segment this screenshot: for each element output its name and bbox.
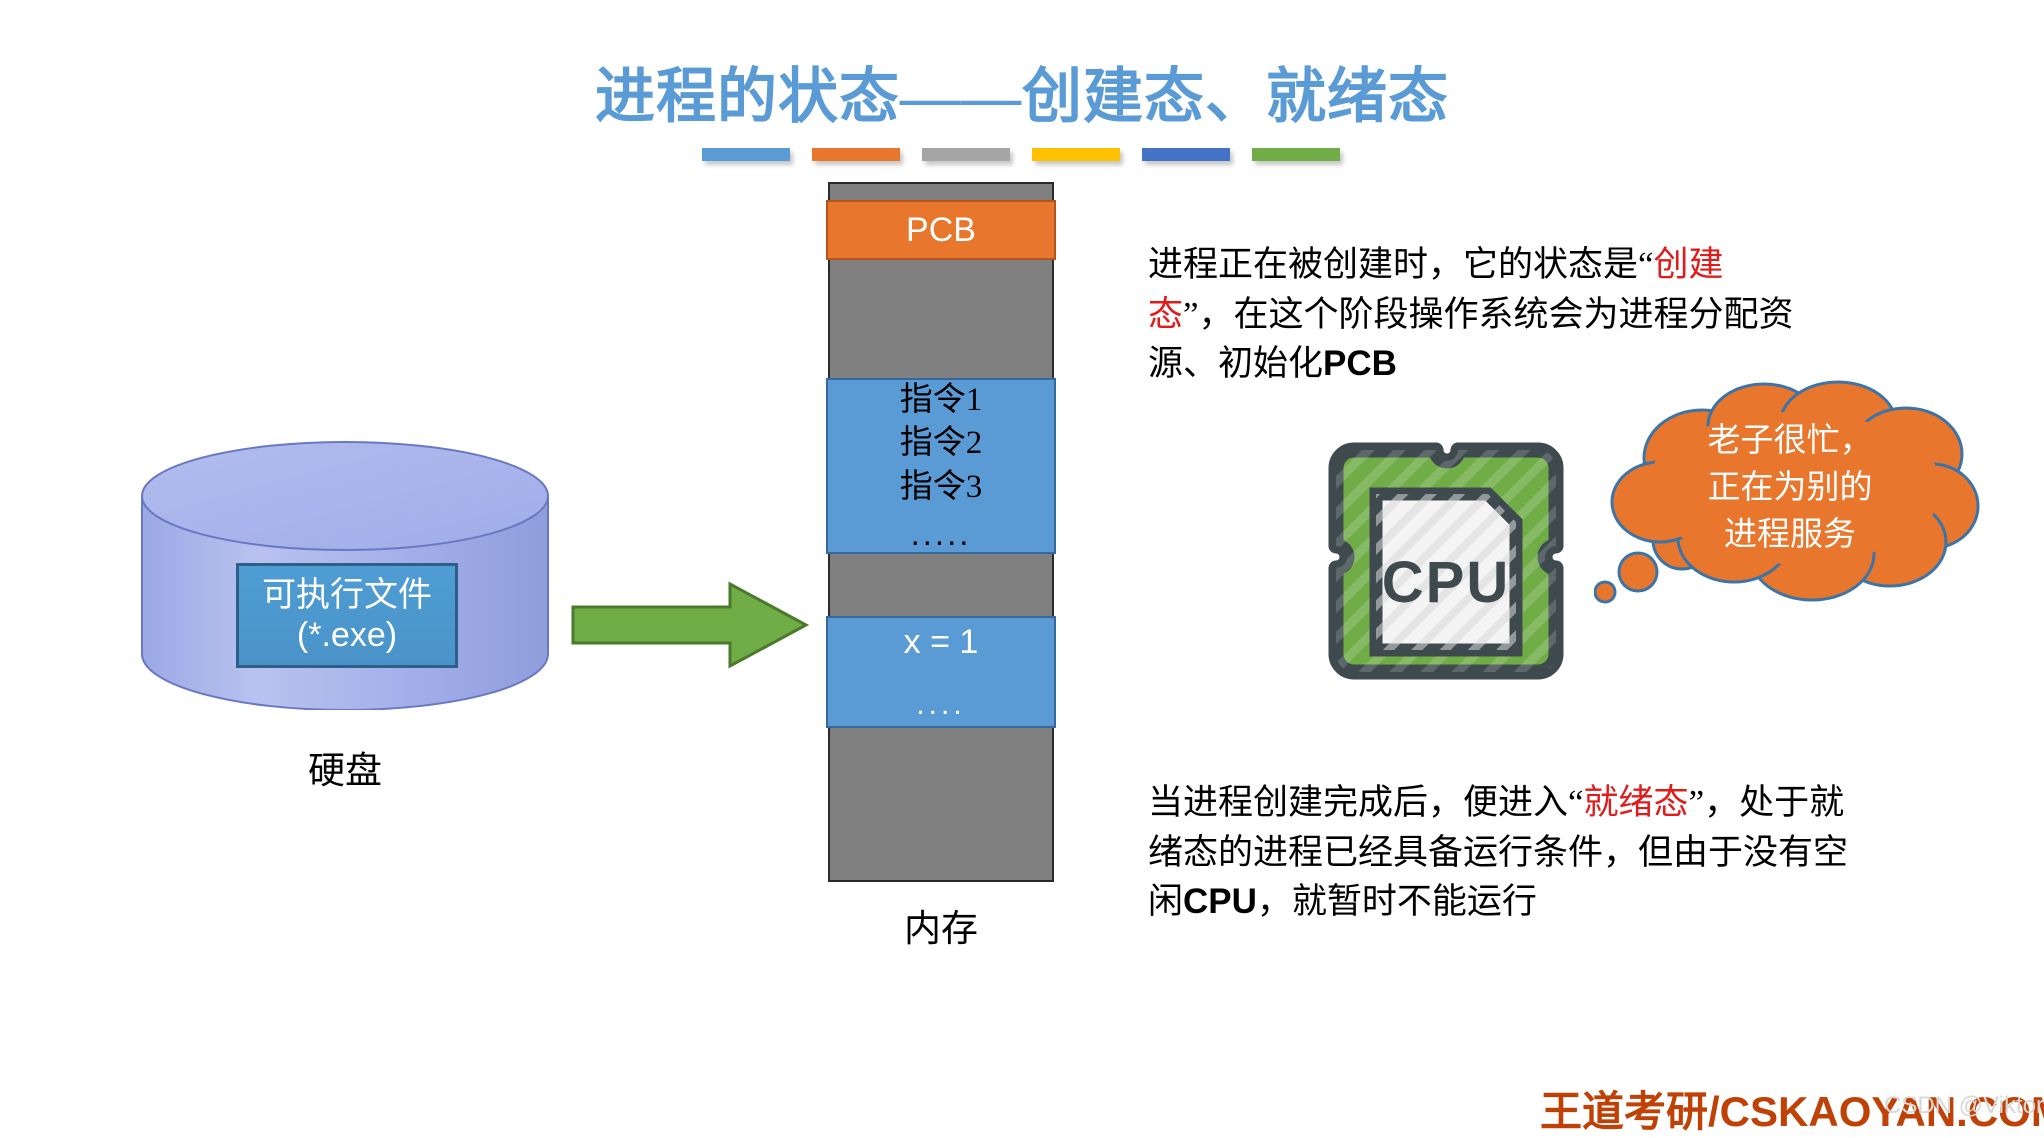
title-accent-rules — [702, 148, 1340, 161]
memory-caption: 内存 — [826, 898, 1056, 952]
executable-file-box: 可执行文件 (*.exe) — [236, 563, 458, 668]
para-top-seg1: 进程正在被创建时，它的状态是“ — [1148, 245, 1654, 284]
executable-file-label-line1: 可执行文件 — [262, 576, 432, 615]
para-bottom-seg1: 当进程创建完成后，便进入“ — [1148, 783, 1584, 822]
memory-block-data: x = 1 .... — [826, 616, 1056, 728]
variable-assignment: x = 1 — [904, 623, 979, 662]
thought-bubble-text: 老子很忙， 正在为别的 进程服务 — [1660, 418, 1920, 559]
instruction-line-1: 指令1 — [900, 379, 983, 423]
bubble-line-1: 老子很忙， — [1660, 418, 1920, 465]
hard-disk-group: 可执行文件 (*.exe) 硬盘 — [140, 440, 560, 810]
bubble-line-3: 进程服务 — [1660, 512, 1920, 559]
cpu-label: CPU — [1382, 550, 1510, 615]
rule-yellow — [1032, 148, 1120, 161]
memory-column: PCB 指令1 指令2 指令3 ..... x = 1 .... — [826, 182, 1066, 882]
bubble-line-2: 正在为别的 — [1660, 465, 1920, 512]
rule-blue — [702, 148, 790, 161]
memory-block-pcb-label: PCB — [906, 211, 976, 250]
memory-block-code: 指令1 指令2 指令3 ..... — [826, 378, 1056, 554]
instruction-line-3: 指令3 — [900, 466, 983, 510]
hard-disk-caption: 硬盘 — [140, 740, 550, 794]
paragraph-ready-state: 当进程创建完成后，便进入“就绪态”，处于就绪态的进程已经具备运行条件，但由于没有… — [1148, 778, 1848, 927]
slide-canvas: 进程的状态——创建态、就绪态 — [0, 0, 2044, 1138]
para-top-seg2: ”，在这个阶段操作系统会为进程分配资源、初始化 — [1148, 295, 1794, 384]
rule-orange — [812, 148, 900, 161]
rule-gray — [922, 148, 1010, 161]
para-bottom-seg3: CPU — [1183, 882, 1257, 921]
load-arrow-icon — [570, 580, 810, 670]
paragraph-creation-state: 进程正在被创建时，它的状态是“创建态”，在这个阶段操作系统会为进程分配资源、初始… — [1148, 240, 1798, 389]
rule-green — [1252, 148, 1340, 161]
brand-watermark-cn: 王道考研 — [1540, 1090, 1708, 1136]
para-bottom-highlight: 就绪态 — [1584, 783, 1689, 822]
para-top-seg3: PCB — [1323, 344, 1397, 383]
page-title: 进程的状态——创建态、就绪态 — [0, 48, 2044, 135]
csdn-watermark: CSDN @Viktoriae — [1884, 1092, 2044, 1120]
cpu-chip-icon: CPU — [1318, 432, 1574, 710]
instruction-ellipsis: ..... — [911, 515, 972, 553]
executable-file-label-line2: (*.exe) — [297, 616, 397, 655]
instruction-line-2: 指令2 — [900, 422, 983, 466]
para-bottom-seg4: ，就暂时不能运行 — [1257, 882, 1537, 921]
rule-indigo — [1142, 148, 1230, 161]
variable-ellipsis: .... — [916, 688, 965, 722]
memory-block-pcb: PCB — [826, 200, 1056, 260]
